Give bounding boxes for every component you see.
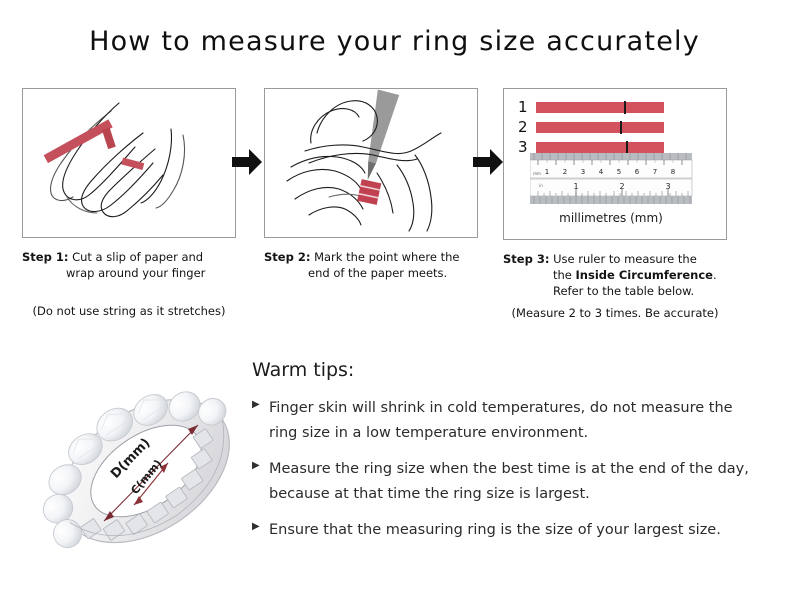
strip-row-1: 1 — [518, 98, 664, 116]
tip-text-1: Finger skin will shrink in cold temperat… — [269, 396, 752, 446]
step-2-line1: Mark the point where the — [314, 250, 459, 264]
bottom-section: D(mm) C(mm) Warm tips: ▶ Finger skin wil… — [0, 345, 789, 606]
step-2-panel — [264, 88, 478, 238]
step-1-label: Step 1: — [22, 250, 68, 264]
strip-mark-3 — [626, 141, 628, 154]
hand-with-paper-slip-illustration — [23, 89, 235, 237]
inch-unit-label: in — [539, 183, 543, 188]
step-2-label: Step 2: — [264, 250, 310, 264]
warm-tips-section: Warm tips: ▶ Finger skin will shrink in … — [252, 359, 752, 554]
step-3-label: Step 3: — [503, 252, 549, 266]
strip-number-1: 1 — [518, 98, 536, 116]
step-3-panel: 1 2 3 — [503, 88, 727, 240]
step-3-line2-suffix: . — [713, 268, 717, 282]
step-1-line2: wrap around your finger — [22, 265, 236, 281]
tip-item-1: ▶ Finger skin will shrink in cold temper… — [252, 396, 752, 446]
cm-tick-5: 5 — [617, 168, 621, 176]
tip-text-3: Ensure that the measuring ring is the si… — [269, 518, 721, 543]
step-1-line1: Cut a slip of paper and — [72, 250, 203, 264]
paper-strip-3 — [536, 142, 664, 153]
strip-mark-2 — [620, 121, 622, 134]
cm-tick-8: 8 — [671, 168, 675, 176]
cm-tick-7: 7 — [653, 168, 657, 176]
cm-tick-4: 4 — [599, 168, 604, 176]
bullet-triangle-icon-3: ▶ — [252, 518, 269, 532]
paper-strip-2 — [536, 122, 664, 133]
tip-item-3: ▶ Ensure that the measuring ring is the … — [252, 518, 752, 543]
steps-row: Step 1: Cut a slip of paper and wrap aro… — [0, 88, 789, 338]
step-2-column: Step 2: Mark the point where the end of … — [264, 88, 478, 304]
strip-row-2: 2 — [518, 118, 664, 136]
cm-tick-6: 6 — [635, 168, 640, 176]
step-1-column: Step 1: Cut a slip of paper and wrap aro… — [22, 88, 236, 318]
step-3-line2-prefix: the — [553, 268, 576, 282]
step-3-line2: the Inside Circumference. — [503, 267, 727, 283]
tip-item-2: ▶ Measure the ring size when the best ti… — [252, 457, 752, 507]
cm-tick-1: 1 — [545, 168, 549, 176]
cm-tick-3: 3 — [581, 168, 585, 176]
step-3-caption: Step 3: Use ruler to measure the the Ins… — [503, 251, 727, 299]
step-1-note: (Do not use string as it stretches) — [22, 304, 236, 318]
tip-text-2: Measure the ring size when the best time… — [269, 457, 752, 507]
hand-marking-paper-illustration — [265, 89, 477, 237]
bullet-triangle-icon-1: ▶ — [252, 396, 269, 410]
ring-diagram: D(mm) C(mm) — [38, 353, 253, 583]
warm-tips-heading: Warm tips: — [252, 359, 752, 381]
step-3-note: (Measure 2 to 3 times. Be accurate) — [503, 306, 727, 320]
page-title: How to measure your ring size accurately — [0, 26, 789, 57]
strip-mark-1 — [624, 101, 626, 114]
arrow-right-icon-1 — [232, 148, 262, 176]
step-3-line1: Use ruler to measure the — [553, 252, 697, 266]
paper-strip-1 — [536, 102, 664, 113]
cm-tick-2: 2 — [563, 168, 567, 176]
step-3-line3: Refer to the table below. — [503, 283, 727, 299]
arrow-right-icon-2 — [473, 148, 503, 176]
step-2-caption: Step 2: Mark the point where the end of … — [264, 249, 478, 281]
step-3-line2-bold: Inside Circumference — [576, 268, 713, 282]
cm-unit-label: mm — [533, 171, 541, 176]
step-1-panel — [22, 88, 236, 238]
step-2-line2: end of the paper meets. — [264, 265, 478, 281]
strip-number-2: 2 — [518, 118, 536, 136]
step-3-column: 1 2 3 — [503, 88, 727, 320]
bullet-triangle-icon-2: ▶ — [252, 457, 269, 471]
step-1-caption: Step 1: Cut a slip of paper and wrap aro… — [22, 249, 236, 281]
millimetres-caption: millimetres (mm) — [504, 211, 718, 225]
ruler-illustration: 1 2 3 4 5 6 7 8 mm 1 2 3 in — [530, 153, 700, 209]
